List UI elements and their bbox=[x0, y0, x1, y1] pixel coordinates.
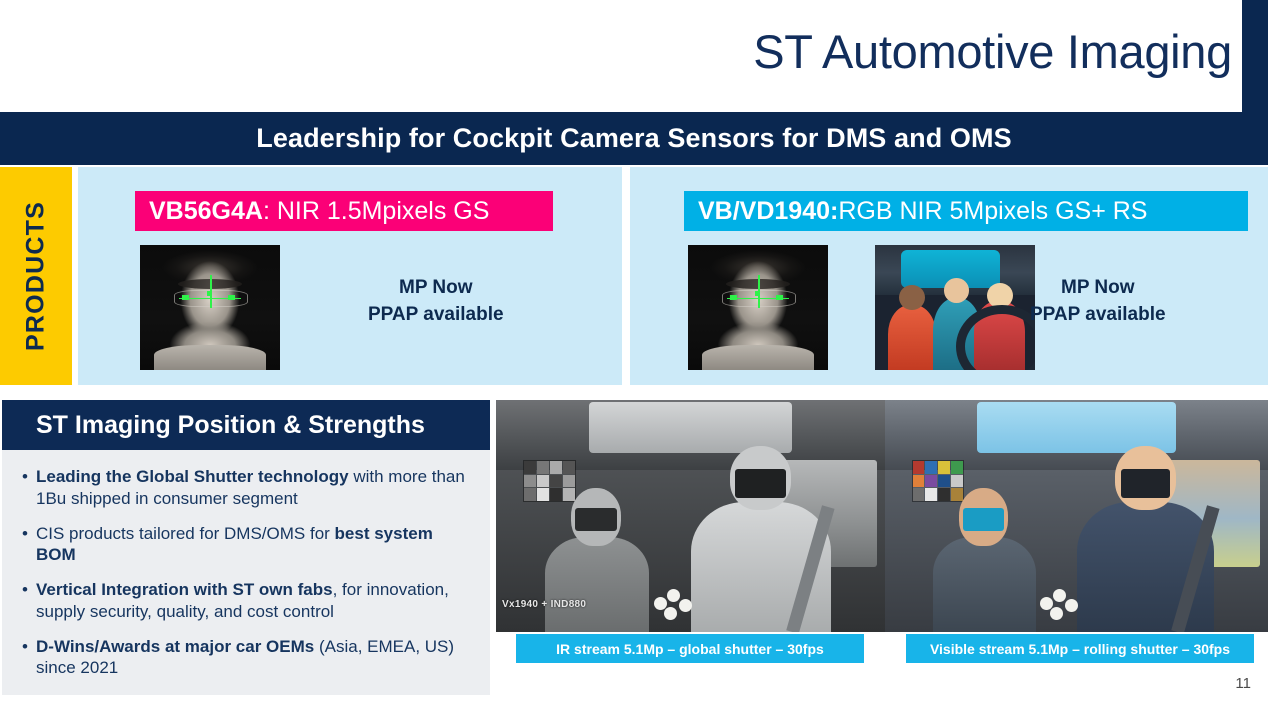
occupant-body bbox=[545, 537, 650, 632]
product-part-description: : NIR 1.5Mpixels GS bbox=[263, 197, 489, 226]
ir-stream-caption: IR stream 5.1Mp – global shutter – 30fps bbox=[516, 634, 864, 663]
list-item: • Vertical Integration with ST own fabs,… bbox=[14, 579, 474, 623]
product-card-vbvd1940[interactable]: VB/VD1940: RGB NIR 5Mpixels GS+ RS bbox=[630, 167, 1268, 385]
list-item-emphasis: D-Wins/Awards at major car OEMs bbox=[36, 637, 314, 656]
product-status-note: MP Now PPAP available bbox=[1030, 275, 1166, 328]
title-right-accent-bar bbox=[1242, 0, 1268, 112]
list-item-emphasis: Vertical Integration with ST own fabs bbox=[36, 580, 333, 599]
list-item-text: Vertical Integration with ST own fabs, f… bbox=[36, 579, 474, 623]
product-card-vb56g4a[interactable]: VB56G4A: NIR 1.5Mpixels GS MP Now PPAP a… bbox=[78, 167, 622, 385]
cabin-occupant-driver bbox=[1077, 446, 1215, 632]
bullet-marker-icon: • bbox=[14, 636, 36, 658]
landmark-dot-center bbox=[207, 291, 212, 296]
rgb-car-selfie-thumbnail bbox=[875, 245, 1035, 370]
occupant-sunglasses bbox=[575, 508, 616, 531]
product-status-line-2: PPAP available bbox=[368, 304, 504, 325]
face-shirt bbox=[702, 345, 814, 370]
section-banner: Leadership for Cockpit Camera Sensors fo… bbox=[0, 112, 1268, 165]
cabin-stream-comparison: Vx1940 + IND880 bbox=[496, 400, 1268, 632]
landmark-dot-center bbox=[755, 291, 760, 296]
page-title: ST Automotive Imaging bbox=[753, 24, 1232, 80]
landmark-dot-left bbox=[182, 295, 189, 300]
slide-title-band: ST Automotive Imaging bbox=[0, 0, 1268, 112]
occupant-body bbox=[933, 537, 1036, 632]
strengths-heading: ST Imaging Position & Strengths bbox=[36, 411, 425, 440]
lower-section: ST Imaging Position & Strengths • Leadin… bbox=[0, 400, 1268, 710]
product-chip-vbvd1940: VB/VD1940: RGB NIR 5Mpixels GS+ RS bbox=[684, 191, 1248, 231]
section-banner-title: Leadership for Cockpit Camera Sensors fo… bbox=[256, 123, 1011, 154]
landmark-dot-left bbox=[730, 295, 737, 300]
cabin-occupant-passenger bbox=[543, 488, 652, 632]
occupant-sunglasses bbox=[963, 508, 1004, 531]
cabin-watermark-label: Vx1940 + IND880 bbox=[502, 599, 586, 610]
product-status-line-2: PPAP available bbox=[1030, 304, 1166, 325]
list-item-text: D-Wins/Awards at major car OEMs (Asia, E… bbox=[36, 636, 474, 680]
landmark-dot-right bbox=[776, 295, 783, 300]
flower-bouquet bbox=[1038, 587, 1082, 627]
list-item-text: CIS products tailored for DMS/OMS for be… bbox=[36, 523, 474, 567]
product-chip-vb56g4a: VB56G4A: NIR 1.5Mpixels GS bbox=[135, 191, 553, 231]
passenger-middle-head bbox=[944, 278, 970, 303]
products-tab-label: PRODUCTS bbox=[22, 201, 51, 351]
product-status-line-1: MP Now bbox=[1061, 277, 1135, 298]
visible-stream-caption: Visible stream 5.1Mp – rolling shutter –… bbox=[906, 634, 1254, 663]
page-number: 11 bbox=[1235, 675, 1251, 692]
products-strip: PRODUCTS VB56G4A: NIR 1.5Mpixels GS MP N… bbox=[0, 167, 1268, 385]
strengths-bullet-list: • Leading the Global Shutter technology … bbox=[2, 450, 490, 679]
list-item: • CIS products tailored for DMS/OMS for … bbox=[14, 523, 474, 567]
list-item-text: Leading the Global Shutter technology wi… bbox=[36, 466, 474, 510]
occupant-sunglasses bbox=[1121, 469, 1171, 499]
bullet-marker-icon: • bbox=[14, 523, 36, 545]
product-part-number: VB/VD1940: bbox=[698, 197, 838, 226]
strengths-panel: ST Imaging Position & Strengths • Leadin… bbox=[2, 400, 490, 695]
visible-stream-image bbox=[885, 400, 1268, 632]
product-part-number: VB56G4A bbox=[149, 197, 263, 226]
product-status-line-1: MP Now bbox=[399, 277, 473, 298]
product-status-note: MP Now PPAP available bbox=[368, 275, 504, 328]
nir-face-thumbnail bbox=[688, 245, 828, 370]
bullet-marker-icon: • bbox=[14, 466, 36, 488]
cabin-occupant-driver bbox=[691, 446, 831, 632]
product-part-description: RGB NIR 5Mpixels GS+ RS bbox=[838, 197, 1147, 226]
cabin-occupant-passenger bbox=[931, 488, 1038, 632]
face-shirt bbox=[154, 345, 266, 370]
flower-bouquet bbox=[652, 587, 696, 627]
passenger-left-head bbox=[899, 285, 925, 310]
occupant-eyeglasses bbox=[735, 469, 785, 499]
passenger-left bbox=[888, 305, 936, 370]
nir-face-thumbnail bbox=[140, 245, 280, 370]
ir-stream-image: Vx1940 + IND880 bbox=[496, 400, 885, 632]
list-item: • Leading the Global Shutter technology … bbox=[14, 466, 474, 510]
passenger-right-head bbox=[987, 283, 1013, 308]
strengths-header: ST Imaging Position & Strengths bbox=[2, 400, 490, 450]
products-tab: PRODUCTS bbox=[0, 167, 72, 385]
bullet-marker-icon: • bbox=[14, 579, 36, 601]
landmark-dot-right bbox=[228, 295, 235, 300]
list-item-emphasis: Leading the Global Shutter technology bbox=[36, 467, 349, 486]
list-item-rest: CIS products tailored for DMS/OMS for bbox=[36, 524, 335, 543]
list-item: • D-Wins/Awards at major car OEMs (Asia,… bbox=[14, 636, 474, 680]
